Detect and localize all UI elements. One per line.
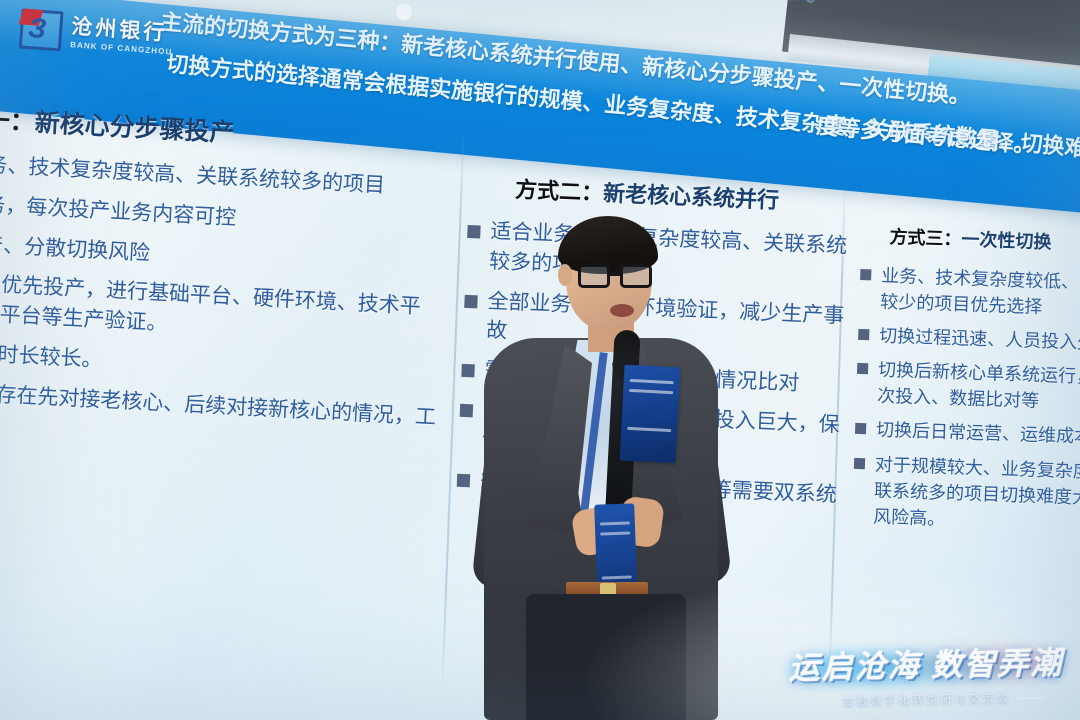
eyeglasses-icon	[578, 264, 652, 288]
column-1-heading-prefix: 方式一：	[0, 104, 36, 137]
column-3-heading-text: 一次性切换	[961, 229, 1052, 252]
logo-glyph: З	[27, 14, 47, 43]
list-item: 业务、技术复杂度较低、关联系统较少的项目优先选择	[859, 262, 1080, 324]
bullet-text: 对于规模较大、业务复杂度高、关联系统多的项目切换难度大，切换风险高。	[873, 451, 1080, 538]
column-1-bullets: 适合业务、技术复杂度较高、关联系统较多的项目 拆分业务，每次投产业务内容可控 多…	[0, 146, 461, 463]
bullet-square-icon	[858, 329, 869, 340]
list-item: 切换后日常运营、运维成本低	[855, 416, 1080, 452]
column-2-heading-text: 新老核心系统并行	[603, 181, 780, 213]
speaker-trousers	[526, 594, 686, 720]
bullet-square-icon	[854, 457, 865, 468]
bullet-square-icon	[855, 423, 866, 434]
list-item: 对于规模较大、业务复杂度高、关联系统多的项目切换难度大，切换风险高。	[852, 450, 1080, 538]
bank-logo-mark-icon: З	[19, 8, 64, 51]
column-1-heading-text: 新核心分步骤投产	[34, 109, 235, 147]
bullet-square-icon	[457, 473, 471, 487]
bullet-text: 切换后日常运营、运维成本低	[876, 417, 1080, 451]
column-2-heading-prefix: 方式二：	[515, 177, 604, 206]
slide-column-3: 方式三：一次性切换 业务、技术复杂度较低、关联系统较少的项目优先选择 切换过程迅…	[852, 222, 1080, 547]
speaker-ear	[558, 264, 572, 286]
column-3-heading-prefix: 方式三：	[889, 227, 962, 249]
bullet-text: 多次投产、分散切换风险	[0, 227, 151, 269]
speaker-mouth	[610, 304, 634, 317]
bullet-square-icon	[857, 363, 868, 374]
bullet-text: 适合业务、技术复杂度较高、关联系统较多的项目	[0, 147, 386, 201]
microphone-flag-banner	[620, 365, 681, 464]
event-watermark: 运启沧海 数智弄潮 金融数字化转型研讨交流会	[777, 637, 1074, 710]
bullet-text: 整体项目时长较长。	[0, 336, 103, 376]
list-item: 切换过程迅速、人员投入少	[858, 322, 1080, 358]
list-item: 切换后新核心单系统运行，无需二次投入、数据比对等	[856, 356, 1080, 418]
bullet-text: 切换过程迅速、人员投入少	[879, 323, 1080, 356]
watermark-title: 运启沧海 数智弄潮	[777, 637, 1074, 688]
bullet-text: 业务、技术复杂度较低、关联系统较少的项目优先选择	[880, 263, 1080, 324]
speaker-person	[470, 212, 730, 720]
conference-photo: 核心环境的切换方式 主流的切换方式为三种：新老核心系统并行使用、新核心分步骤投产…	[0, 0, 1080, 720]
bank-name-cn: 沧州银行	[71, 16, 175, 44]
column-3-heading: 方式三：一次性切换	[889, 223, 1080, 258]
column-3-bullets: 业务、技术复杂度较低、关联系统较少的项目优先选择 切换过程迅速、人员投入少 切换…	[852, 262, 1080, 539]
bullet-text: 切换后新核心单系统运行，无需二次投入、数据比对等	[877, 357, 1080, 418]
bullet-square-icon	[860, 269, 871, 280]
bullet-text: 拆分业务，每次投产业务内容可控	[0, 187, 237, 233]
slide-column-1: 方式一：新核心分步骤投产 适合业务、技术复杂度较高、关联系统较多的项目 拆分业务…	[0, 96, 463, 473]
